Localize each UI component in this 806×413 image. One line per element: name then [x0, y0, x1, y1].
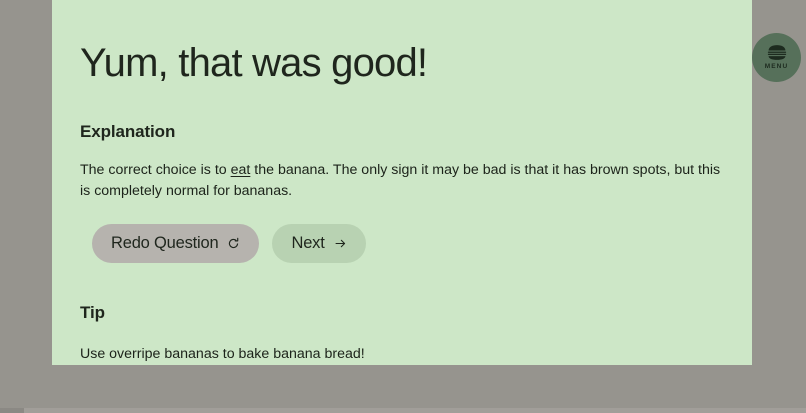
action-button-row: Redo Question Next	[80, 224, 724, 263]
next-label: Next	[291, 233, 324, 253]
arrow-right-icon	[334, 237, 347, 250]
horizontal-scrollbar[interactable]	[0, 408, 806, 413]
tip-text: Use overripe bananas to bake banana brea…	[80, 344, 724, 365]
explanation-emphasis: eat	[231, 162, 251, 178]
burger-icon	[766, 44, 788, 61]
next-button[interactable]: Next	[272, 224, 365, 263]
explanation-heading: Explanation	[80, 121, 724, 143]
result-card: Yum, that was good! Explanation The corr…	[52, 0, 752, 365]
explanation-text: The correct choice is to eat the banana.…	[80, 160, 724, 202]
app-viewport: Yum, that was good! Explanation The corr…	[0, 0, 806, 413]
menu-button[interactable]: MENU	[752, 33, 801, 82]
page-title: Yum, that was good!	[80, 40, 724, 86]
tip-heading: Tip	[80, 302, 724, 324]
redo-question-button[interactable]: Redo Question	[92, 224, 259, 263]
refresh-icon	[227, 237, 240, 250]
explanation-text-before: The correct choice is to	[80, 162, 231, 178]
menu-label: MENU	[765, 63, 789, 71]
horizontal-scrollbar-thumb[interactable]	[0, 408, 24, 413]
redo-question-label: Redo Question	[111, 233, 218, 253]
